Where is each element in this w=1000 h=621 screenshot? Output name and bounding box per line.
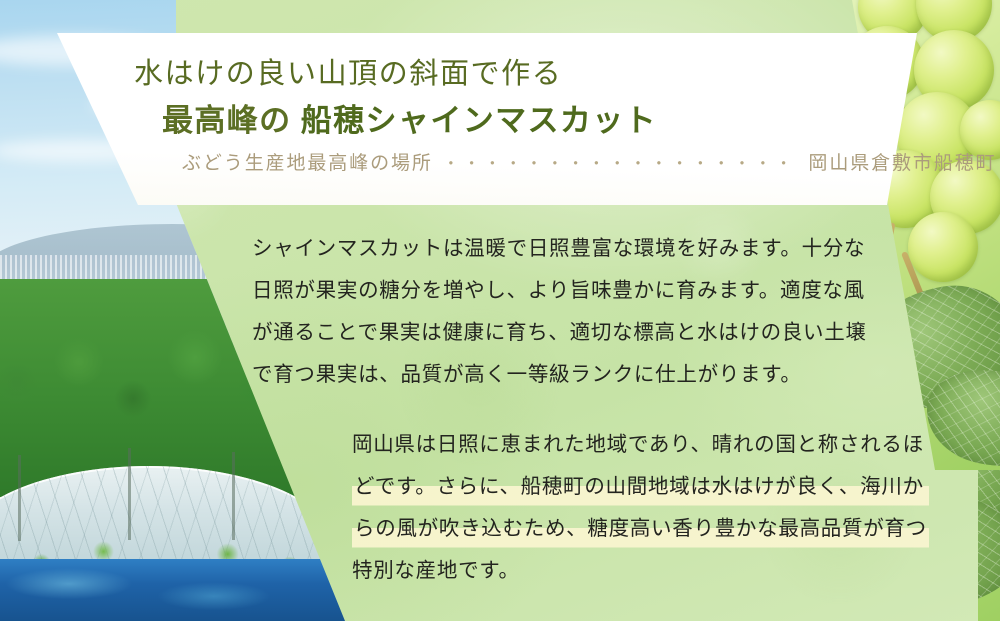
grape-berry <box>908 212 978 282</box>
promo-banner-page: 水はけの良い山頂の斜面で作る 最高峰の 船穂シャインマスカット ぶどう生産地最高… <box>0 0 1000 621</box>
paragraph-line-highlighted: らの風が吹き込むため、糖度高い香り豊かな最高品質が育つ <box>352 508 929 550</box>
body-paragraph-2: 岡山県は日照に恵まれた地域であり、晴れの国と称されるほ どです。さらに、船穂町の… <box>352 424 929 592</box>
title-banner-panel <box>52 33 917 205</box>
paragraph-line: 岡山県は日照に恵まれた地域であり、晴れの国と称されるほ <box>352 424 929 466</box>
paragraph-line: が通ることで果実は健康に育ち、適切な標高と水はけの良い土壌 <box>252 312 867 354</box>
body-paragraph-1: シャインマスカットは温暖で日照豊富な環境を好みます。十分な 日照が果実の糖分を増… <box>252 228 867 396</box>
paragraph-line: 特別な産地です。 <box>352 550 929 592</box>
paragraph-line-highlighted: どです。さらに、船穂町の山間地域は水はけが良く、海川か <box>352 466 929 508</box>
paragraph-line: 日照が果実の糖分を増やし、より旨味豊かに育みます。適度な風 <box>252 270 867 312</box>
paragraph-line: シャインマスカットは温暖で日照豊富な環境を好みます。十分な <box>252 228 867 270</box>
blue-tarp-sheet <box>0 559 345 621</box>
paragraph-line: で育つ果実は、品質が高く一等級ランクに仕上がります。 <box>252 354 867 396</box>
